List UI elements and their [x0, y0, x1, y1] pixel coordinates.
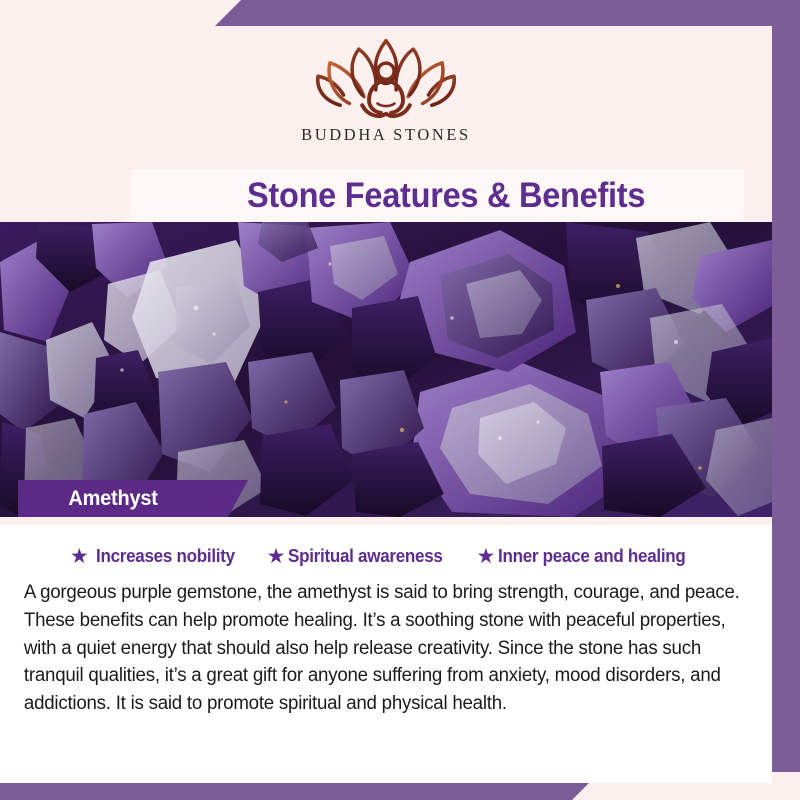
decorative-border-right: [772, 0, 800, 772]
star-icon: ★: [476, 546, 495, 567]
star-icon: ★: [70, 546, 89, 567]
benefits-list: ★ Increases nobility ★ Spiritual awarene…: [22, 545, 750, 567]
stone-name-banner: Amethyst: [18, 480, 248, 517]
decorative-border-top: [215, 0, 800, 26]
star-icon: ★: [267, 546, 286, 567]
section-title-bar: Stone Features & Benefits: [130, 169, 744, 222]
stone-info-card: BUDDHA STONES Stone Features & Benefits: [0, 0, 800, 800]
list-item: ★ Increases nobility: [70, 545, 247, 567]
benefit-label: Increases nobility: [96, 545, 235, 567]
content-panel: ★ Increases nobility ★ Spiritual awarene…: [0, 525, 772, 783]
card-page: BUDDHA STONES Stone Features & Benefits: [0, 26, 772, 772]
list-item: ★ Inner peace and healing: [476, 545, 702, 567]
lotus-meditating-figure-icon: [301, 32, 471, 124]
brand-header: BUDDHA STONES: [0, 26, 772, 169]
stone-name: Amethyst: [68, 487, 157, 511]
list-item: ★ Spiritual awareness: [267, 545, 457, 567]
photo-content-divider: [0, 517, 772, 525]
amethyst-crystal-cluster-photo: Amethyst: [0, 222, 772, 517]
page-title: Stone Features & Benefits: [247, 176, 645, 216]
stone-description: A gorgeous purple gemstone, the amethyst…: [22, 579, 745, 718]
benefit-label: Inner peace and healing: [498, 545, 686, 567]
brand-name: BUDDHA STONES: [301, 125, 471, 145]
benefit-label: Spiritual awareness: [288, 545, 443, 567]
